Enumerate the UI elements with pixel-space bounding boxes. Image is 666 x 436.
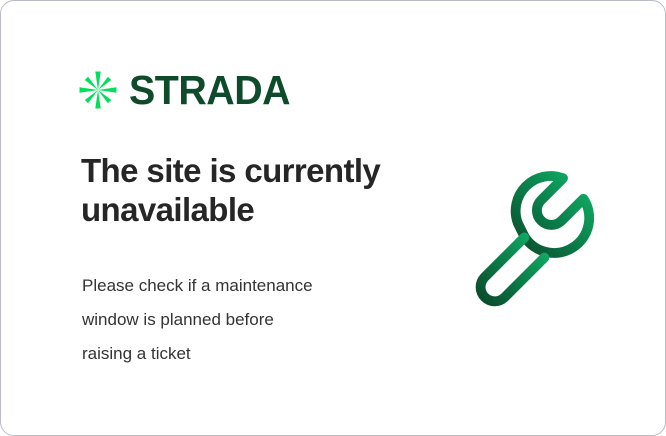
description-line: window is planned before [82,303,387,337]
description-line: Please check if a maintenance [82,269,387,303]
status-description: Please check if a maintenance window is … [82,269,387,371]
brand-wordmark: STRADA [129,70,290,111]
status-card: STRADA The site is currently unavailable… [0,0,666,436]
brand-logo: STRADA [77,69,297,111]
wrench-icon [453,153,617,317]
page-title: The site is currently unavailable [81,152,411,230]
description-line: raising a ticket [82,337,387,371]
strada-starburst-icon [77,69,119,111]
